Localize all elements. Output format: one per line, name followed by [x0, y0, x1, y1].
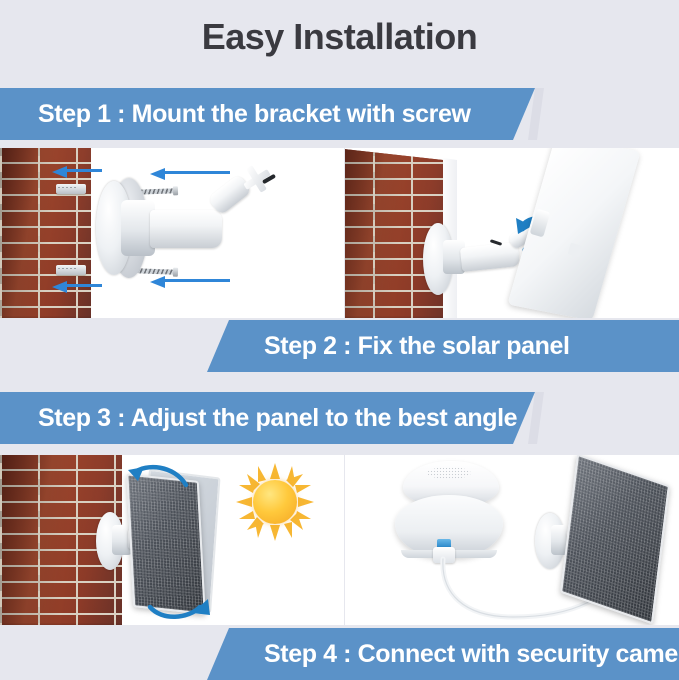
bracket-barrel: [150, 210, 222, 248]
sun-core: [253, 480, 297, 524]
direction-arrow-left: [150, 276, 230, 285]
step-2-banner: Step 2 : Fix the solar panel: [207, 320, 679, 372]
step-4-illustration: [345, 455, 679, 625]
step-3-illustration: [0, 455, 344, 625]
step-1-illustration: [0, 148, 344, 318]
screw: [137, 267, 175, 275]
step-2-illustration: [345, 148, 679, 318]
step-1-banner: Step 1 : Mount the bracket with screw: [0, 88, 535, 140]
step-2-label: Step 2 : Fix the solar panel: [264, 332, 570, 361]
wall-anchor-plug: [56, 265, 86, 275]
step-1-label: Step 1 : Mount the bracket with screw: [38, 100, 471, 129]
infographic-root: Easy Installation Step 1 : Mount the bra…: [0, 0, 679, 679]
step-4-banner: Step 4 : Connect with security camera: [207, 628, 679, 680]
direction-arrow-left: [150, 168, 230, 177]
tilt-arrow-bottom: [144, 591, 214, 623]
direction-arrow-left: [52, 281, 102, 290]
step-3-banner: Step 3 : Adjust the panel to the best an…: [0, 392, 535, 444]
tilt-arrow-top: [124, 461, 190, 491]
step-4-label: Step 4 : Connect with security camera: [264, 640, 679, 669]
sun-icon: [236, 463, 314, 541]
wall-anchor-plug: [56, 184, 86, 194]
direction-arrow-left: [52, 166, 102, 175]
solar-panel-white-back: [507, 148, 640, 318]
page-title: Easy Installation: [0, 14, 679, 60]
step-3-label: Step 3 : Adjust the panel to the best an…: [38, 404, 517, 433]
camera-speaker-grille: [427, 467, 471, 479]
